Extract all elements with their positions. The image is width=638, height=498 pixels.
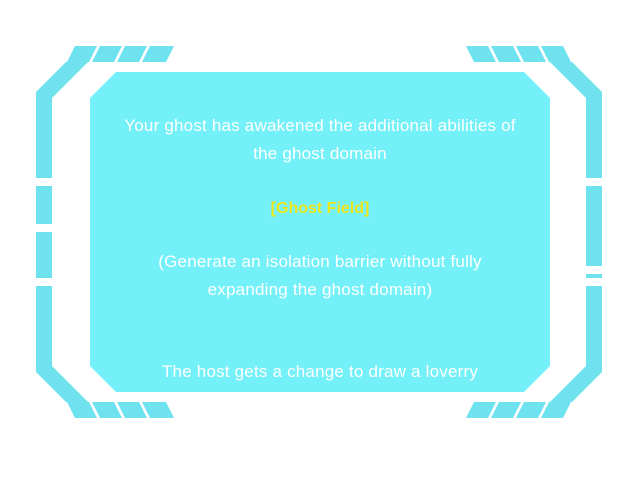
screen-root: Your ghost has awakened the additional a…: [0, 0, 638, 498]
ability-name-label: [Ghost Field]: [116, 168, 524, 222]
side-rail-left-icon: [36, 186, 52, 278]
reward-text: The host gets a change to draw a loverry: [116, 304, 524, 386]
intro-text: Your ghost has awakened the additional a…: [116, 112, 524, 168]
message-panel: Your ghost has awakened the additional a…: [90, 72, 550, 392]
ability-description-text: (Generate an isolation barrier without f…: [116, 222, 524, 304]
side-rail-right-icon: [586, 186, 602, 278]
